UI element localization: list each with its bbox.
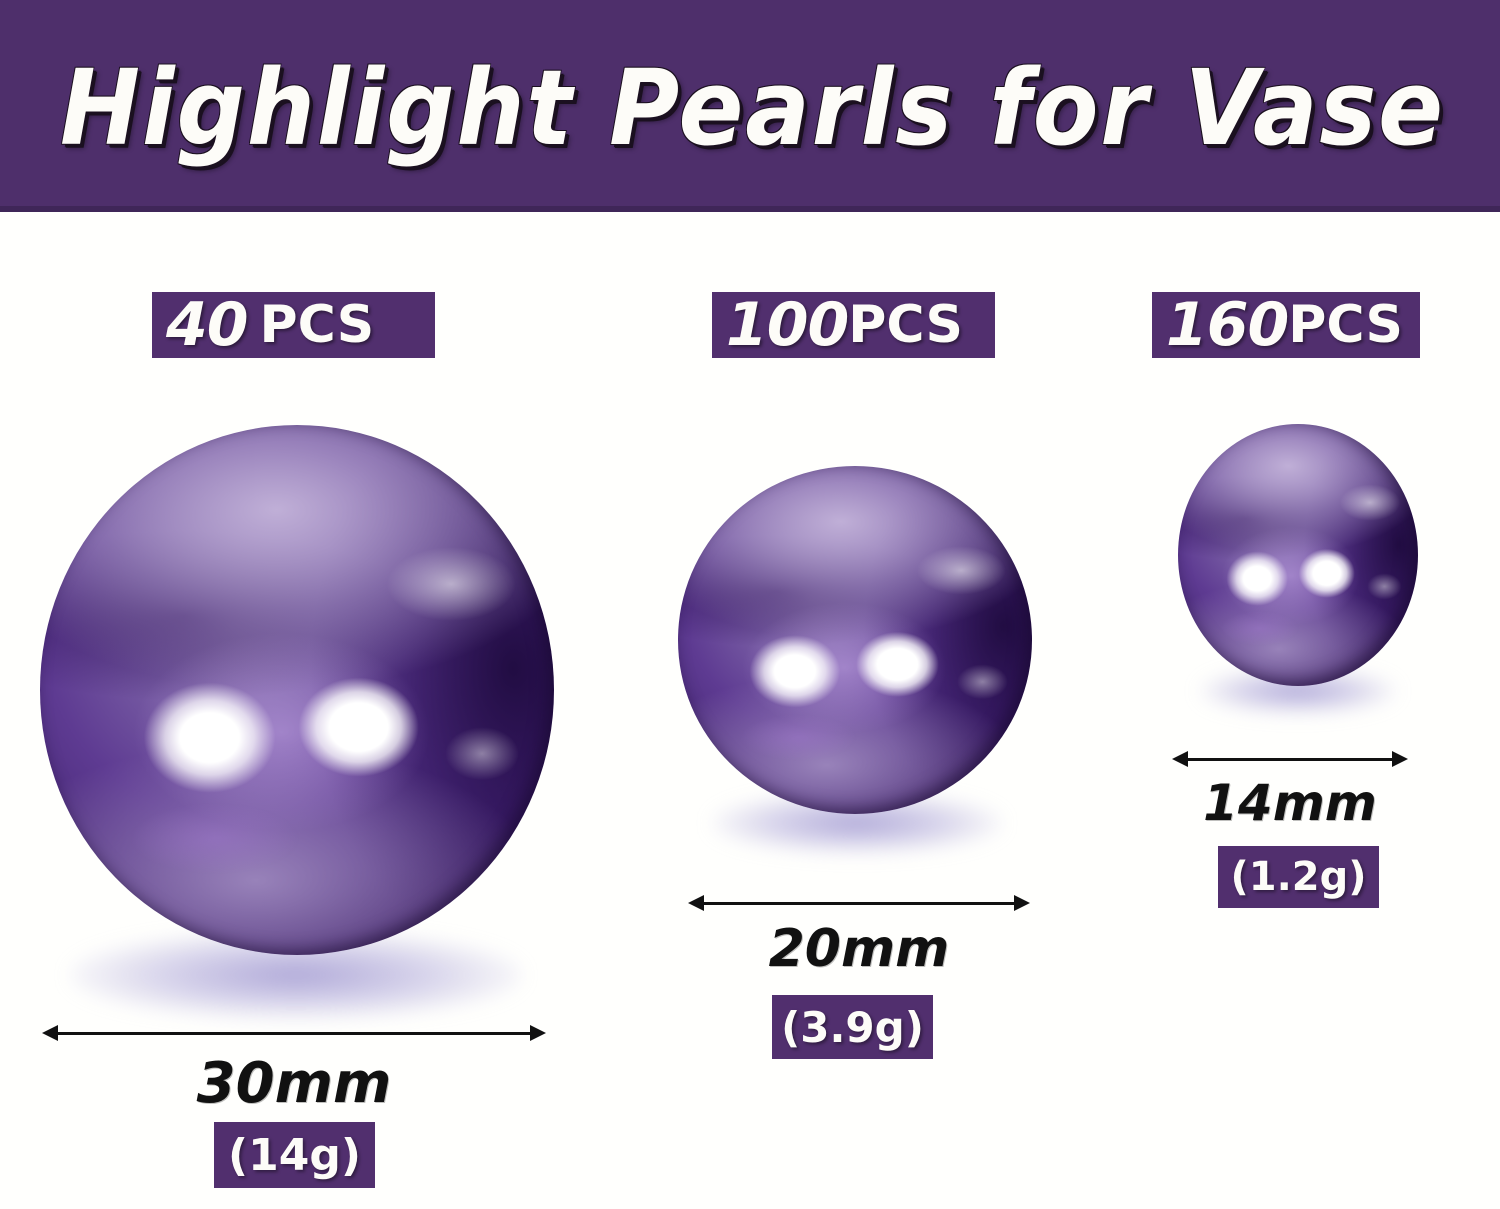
pearl-sphere-icon: [678, 466, 1032, 814]
header-banner: Highlight Pearls for Vase: [0, 0, 1500, 212]
count-unit: PCS: [1288, 292, 1403, 358]
count-number: 40: [166, 292, 248, 358]
arrow-line: [52, 1032, 536, 1035]
pearl-sphere-icon: [40, 425, 554, 955]
weight-label: (3.9g): [781, 1003, 924, 1052]
weight-badge-30mm: (14g): [214, 1122, 375, 1188]
pearl-sphere-icon-30mm: [40, 425, 554, 955]
double-arrow-icon-30mm: [42, 1022, 546, 1044]
count-unit: PCS: [848, 292, 963, 358]
diameter-label-30mm: 30mm: [42, 1053, 546, 1115]
count-unit: PCS: [260, 292, 375, 358]
arrow-head-right-icon: [1392, 751, 1408, 767]
pearl-sphere-icon-14mm: [1178, 424, 1418, 686]
diameter-label-20mm: 20mm: [688, 920, 1030, 978]
weight-label: (14g): [228, 1130, 361, 1181]
arrow-head-right-icon: [530, 1025, 546, 1041]
count-badge-40pcs: 40 PCS: [152, 292, 435, 358]
page-title: Highlight Pearls for Vase: [60, 52, 1440, 164]
arrow-head-right-icon: [1014, 895, 1030, 911]
weight-badge-20mm: (3.9g): [772, 995, 933, 1059]
count-badge-160pcs: 160 PCS: [1152, 292, 1420, 358]
count-badge-100pcs: 100 PCS: [712, 292, 995, 358]
weight-badge-14mm: (1.2g): [1218, 846, 1379, 908]
arrow-line: [1182, 758, 1398, 761]
double-arrow-icon-20mm: [688, 892, 1030, 914]
double-arrow-icon-14mm: [1172, 748, 1408, 770]
count-number: 160: [1166, 292, 1288, 358]
diameter-label-14mm: 14mm: [1150, 775, 1430, 831]
pearl-sphere-icon-20mm: [678, 466, 1032, 814]
pearl-sphere-icon: [1178, 424, 1418, 686]
weight-label: (1.2g): [1230, 854, 1366, 900]
count-number: 100: [726, 292, 848, 358]
arrow-line: [698, 902, 1020, 905]
product-infographic: Highlight Pearls for Vase 40 PCS 30mm (1…: [0, 0, 1500, 1209]
